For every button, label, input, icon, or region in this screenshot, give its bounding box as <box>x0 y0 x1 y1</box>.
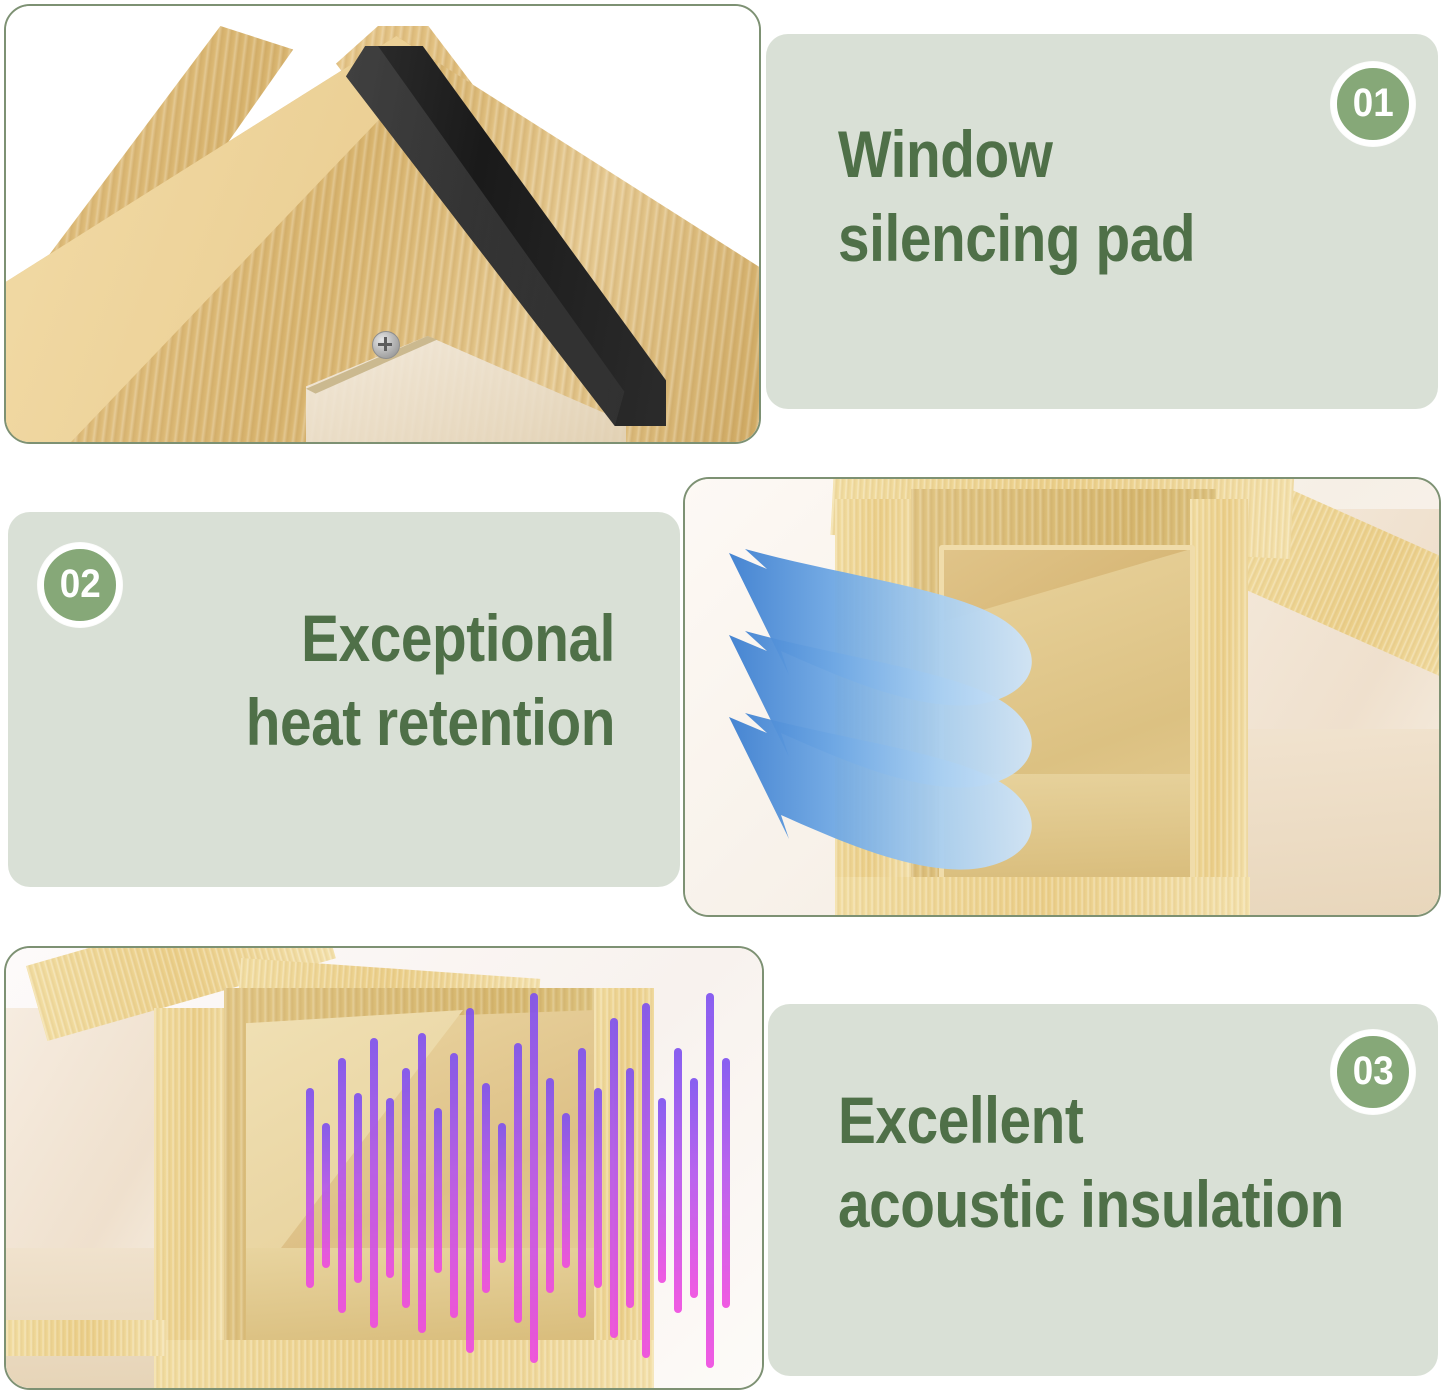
cat-house-acoustic-illustration <box>6 948 762 1388</box>
feature-title-01: Window silencing pad <box>838 112 1388 281</box>
feature-badge-01: 01 <box>1331 62 1415 146</box>
feature-badge-label-01: 01 <box>1353 81 1394 126</box>
infographic-root: Window silencing pad 01 02 Exceptional h… <box>0 0 1445 1395</box>
cat-house-heat-illustration <box>685 479 1439 915</box>
screw-icon <box>372 331 400 359</box>
feature-image-panel-01 <box>4 4 761 444</box>
wood-corner-illustration <box>6 6 759 442</box>
feature-title-03: Excellent acoustic insulation <box>838 1078 1388 1247</box>
heat-flow-arrows-group <box>685 479 1441 917</box>
feature-image-panel-03 <box>4 946 764 1390</box>
feature-image-panel-02 <box>683 477 1441 917</box>
sound-wave-group <box>6 948 764 1390</box>
feature-title-02: Exceptional heat retention <box>86 596 615 765</box>
feature-badge-03: 03 <box>1331 1030 1415 1114</box>
feature-badge-label-03: 03 <box>1353 1049 1394 1094</box>
